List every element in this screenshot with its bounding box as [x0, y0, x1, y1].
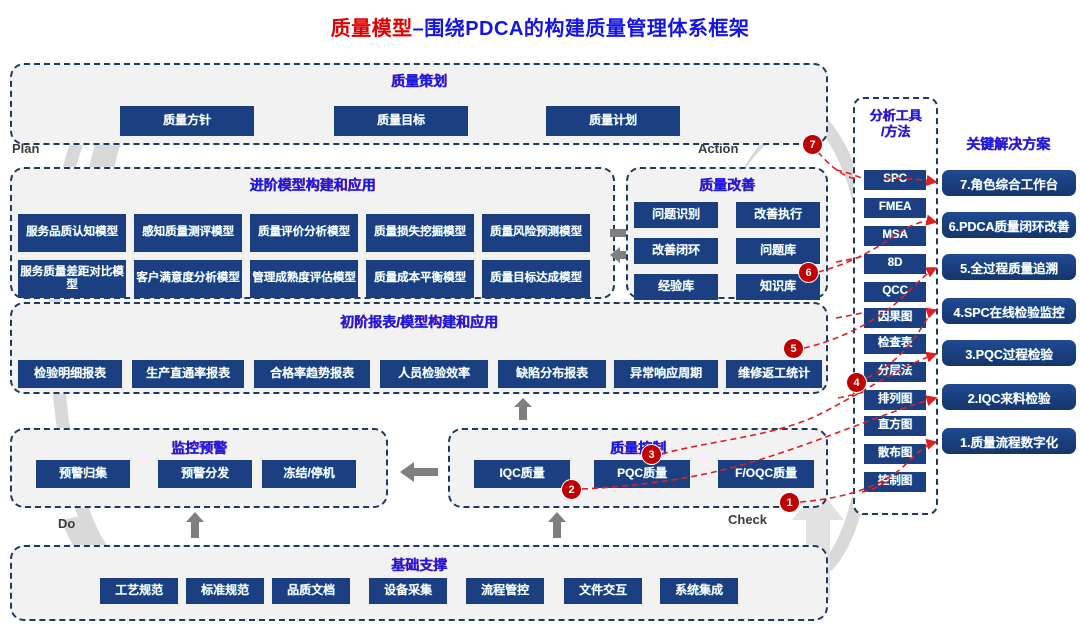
solution-7-role-workbench[interactable]: 7.角色综合工作台 [942, 170, 1076, 196]
box-alarm-aggregation[interactable]: 预警归集 [36, 460, 130, 488]
box-quality-risk-prediction-model[interactable]: 质量风险预测模型 [482, 214, 590, 252]
label-plan: Plan [12, 141, 39, 156]
box-standard-specification[interactable]: 标准规范 [186, 578, 264, 604]
tool-control-chart[interactable]: 控制图 [864, 472, 926, 492]
tool-scatter-plot[interactable]: 散布图 [864, 444, 926, 464]
group-foundation-title: 基础支撑 [12, 555, 826, 575]
tool-qcc[interactable]: QCC [864, 282, 926, 302]
solution-5-full-process-traceability[interactable]: 5.全过程质量追溯 [942, 254, 1076, 280]
marker-7[interactable]: 7 [803, 135, 822, 154]
marker-2[interactable]: 2 [562, 480, 581, 499]
box-production-ftt-report[interactable]: 生产直通率报表 [132, 360, 244, 388]
box-equipment-collection[interactable]: 设备采集 [369, 578, 447, 604]
tool-checklist[interactable]: 检查表 [864, 334, 926, 354]
box-quality-cost-balance-model[interactable]: 质量成本平衡模型 [366, 260, 474, 298]
group-improvement-title: 质量改善 [628, 175, 826, 195]
box-customer-satisfaction-model[interactable]: 客户满意度分析模型 [134, 260, 242, 298]
box-freeze-stop[interactable]: 冻结/停机 [262, 460, 356, 488]
tool-cause-effect-diagram[interactable]: 因果图 [864, 308, 926, 328]
box-file-exchange[interactable]: 文件交互 [564, 578, 642, 604]
box-pqc-quality[interactable]: PQC质量 [594, 460, 690, 488]
box-abnormal-response-cycle[interactable]: 异常响应周期 [614, 360, 718, 388]
marker-1[interactable]: 1 [780, 493, 799, 512]
group-basic-report-title: 初阶报表/模型构建和应用 [12, 312, 826, 332]
box-repair-rework-statistics[interactable]: 维修返工统计 [726, 360, 822, 388]
group-planning-title: 质量策划 [12, 71, 826, 91]
box-inspection-detail-report[interactable]: 检验明细报表 [18, 360, 122, 388]
box-process-specification[interactable]: 工艺规范 [100, 578, 178, 604]
title-red-part: 质量模型 [331, 18, 413, 40]
label-action: Action [698, 141, 738, 156]
box-pass-rate-trend-report[interactable]: 合格率趋势报表 [254, 360, 370, 388]
box-foqc-quality[interactable]: F/OQC质量 [718, 460, 814, 488]
box-problem-library[interactable]: 问题库 [736, 238, 820, 264]
box-quality-plan[interactable]: 质量计划 [546, 106, 680, 136]
label-check: Check [728, 512, 767, 527]
box-quality-evaluation-analysis-model[interactable]: 质量评价分析模型 [250, 214, 358, 252]
box-quality-objective[interactable]: 质量目标 [334, 106, 468, 136]
box-defect-distribution-report[interactable]: 缺陷分布报表 [498, 360, 606, 388]
box-perceived-quality-evaluation-model[interactable]: 感知质量测评模型 [134, 214, 242, 252]
box-alarm-distribution[interactable]: 预警分发 [158, 460, 252, 488]
diagram-canvas: 质量模型–围绕PDCA的构建质量管理体系框架 质量策划 质量方针 质量目标 质量… [0, 0, 1080, 631]
box-iqc-quality[interactable]: IQC质量 [474, 460, 570, 488]
tool-spc[interactable]: SPC [864, 170, 926, 190]
arrow-up-foundation-to-qc [548, 512, 566, 538]
box-problem-identification[interactable]: 问题识别 [634, 202, 718, 228]
box-quality-document[interactable]: 品质文档 [272, 578, 350, 604]
box-service-quality-perception-model[interactable]: 服务品质认知模型 [18, 214, 126, 252]
box-process-control[interactable]: 流程管控 [466, 578, 544, 604]
tool-8d[interactable]: 8D [864, 254, 926, 274]
tool-stratification[interactable]: 分层法 [864, 362, 926, 382]
box-system-integration[interactable]: 系统集成 [660, 578, 738, 604]
tool-histogram[interactable]: 直方图 [864, 416, 926, 436]
solution-1-quality-process-digitization[interactable]: 1.质量流程数字化 [942, 428, 1076, 454]
marker-4[interactable]: 4 [847, 373, 866, 392]
box-quality-loss-mining-model[interactable]: 质量损失挖掘模型 [366, 214, 474, 252]
box-experience-library[interactable]: 经验库 [634, 274, 718, 300]
group-advanced-model-title: 进阶模型构建和应用 [12, 175, 613, 195]
tool-pareto-chart[interactable]: 排列图 [864, 390, 926, 410]
box-management-maturity-model[interactable]: 管理成熟度评估模型 [250, 260, 358, 298]
box-personnel-inspection-efficiency[interactable]: 人员检验效率 [380, 360, 488, 388]
solution-4-spc-online-monitoring[interactable]: 4.SPC在线检验监控 [942, 298, 1076, 324]
solution-3-pqc-process-inspection[interactable]: 3.PQC过程检验 [942, 340, 1076, 366]
arrow-up-foundation-to-monitor [186, 512, 204, 538]
tool-fmea[interactable]: FMEA [864, 198, 926, 218]
marker-5[interactable]: 5 [784, 339, 803, 358]
title-blue-part: –围绕PDCA的构建质量管理体系框架 [413, 18, 750, 40]
group-monitor-title: 监控预警 [12, 438, 386, 458]
box-service-quality-gap-model[interactable]: 服务质量差距对比模型 [18, 260, 126, 298]
label-do: Do [58, 516, 75, 531]
marker-3[interactable]: 3 [642, 445, 661, 464]
arrow-up-qc-to-report [514, 398, 532, 420]
box-quality-policy[interactable]: 质量方针 [120, 106, 254, 136]
group-quality-control-title: 质量控制 [450, 438, 826, 458]
box-quality-goal-achievement-model[interactable]: 质量目标达成模型 [482, 260, 590, 298]
solution-6-pdca-closed-loop[interactable]: 6.PDCA质量闭环改善 [942, 212, 1076, 238]
group-solutions-title: 关键解决方案 [936, 134, 1080, 154]
tool-msa[interactable]: MSA [864, 226, 926, 246]
marker-6[interactable]: 6 [799, 263, 818, 282]
box-improvement-execution[interactable]: 改善执行 [736, 202, 820, 228]
group-analysis-tools-title-line2: /方法 [855, 121, 936, 140]
box-improvement-closed-loop[interactable]: 改善闭环 [634, 238, 718, 264]
page-title: 质量模型–围绕PDCA的构建质量管理体系框架 [0, 12, 1080, 41]
solution-2-iqc-incoming-inspection[interactable]: 2.IQC来料检验 [942, 384, 1076, 410]
arrow-left-qc-to-monitor [400, 462, 438, 482]
